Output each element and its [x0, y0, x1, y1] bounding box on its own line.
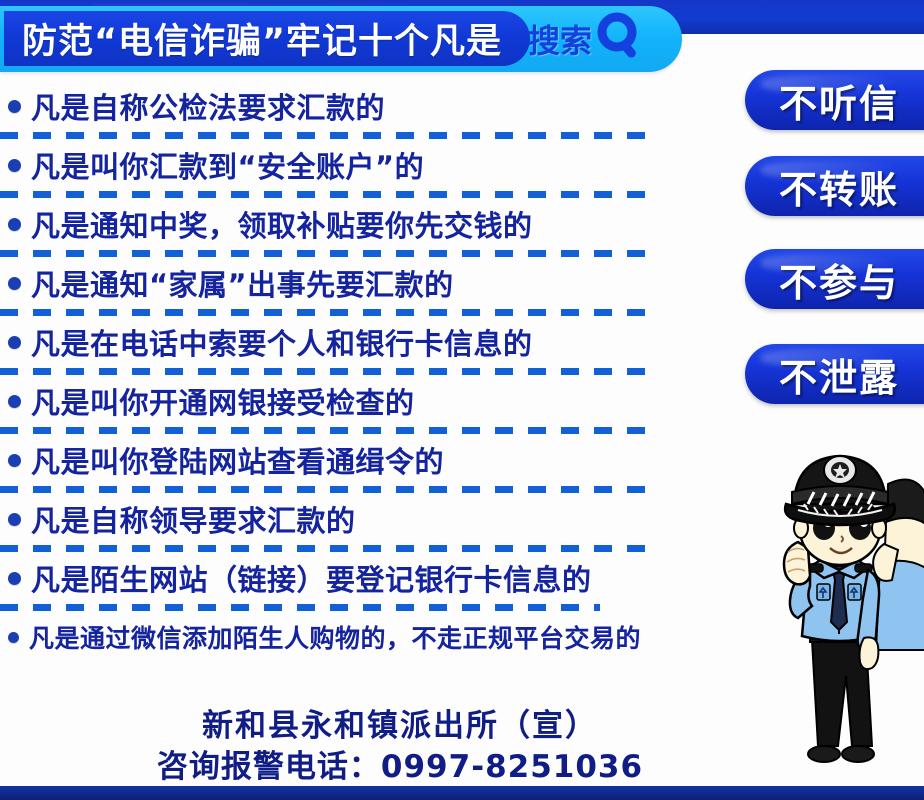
page-title: 防范“电信诈骗”牢记十个凡是 [4, 13, 502, 64]
list-item-label: 凡是自称领导要求汇款的 [31, 498, 356, 540]
title-banner: 防范“电信诈骗”牢记十个凡是 搜索 [0, 6, 682, 72]
bullet-icon [8, 572, 21, 585]
dashed-divider [0, 486, 650, 493]
dashed-divider [0, 368, 650, 375]
search-label: 搜索 [528, 16, 592, 62]
badge-label: 不转账 [745, 159, 899, 214]
rules-list: 凡是自称公检法要求汇款的 凡是叫你汇款到“安全账户”的 凡是通知中奖，领取补贴要… [0, 80, 740, 663]
hotline-text: 咨询报警电话：0997-8251036 [0, 746, 800, 788]
list-item-label: 凡是自称公检法要求汇款的 [31, 85, 385, 127]
footer: 新和县永和镇派出所（宣） 咨询报警电话：0997-8251036 [0, 706, 800, 788]
dashed-divider [0, 545, 650, 552]
dashed-divider [0, 191, 650, 198]
list-item: 凡是叫你汇款到“安全账户”的 [0, 139, 740, 191]
list-item: 凡是陌生网站（链接）要登记银行卡信息的 [0, 552, 740, 604]
bullet-icon [8, 513, 21, 526]
list-item-label: 凡是叫你开通网银接受检查的 [31, 380, 415, 422]
badge-do-not-participate[interactable]: 不参与 [745, 249, 924, 309]
list-item: 凡是在电话中索要个人和银行卡信息的 [0, 316, 740, 368]
bullet-icon [8, 277, 21, 290]
bullet-icon [8, 159, 21, 172]
list-item-label: 凡是通知“家属”出事先要汇款的 [31, 262, 454, 304]
list-item: 凡是自称领导要求汇款的 [0, 493, 740, 545]
bullet-icon [8, 395, 21, 408]
badge-label: 不听信 [745, 73, 899, 128]
title-pill: 防范“电信诈骗”牢记十个凡是 [4, 11, 530, 66]
list-item: 凡是通过微信添加陌生人购物的，不走正规平台交易的 [0, 611, 740, 663]
dashed-divider [0, 250, 650, 257]
list-item-label: 凡是通知中奖，领取补贴要你先交钱的 [31, 203, 533, 245]
bullet-icon [8, 632, 19, 643]
badge-do-not-believe[interactable]: 不听信 [745, 70, 924, 130]
list-item-label: 凡是通过微信添加陌生人购物的，不走正规平台交易的 [29, 619, 641, 655]
search-icon[interactable] [594, 11, 646, 67]
list-item-label: 凡是叫你登陆网站查看通缉令的 [31, 439, 444, 481]
dashed-divider [0, 427, 650, 434]
badge-do-not-disclose[interactable]: 不泄露 [745, 344, 924, 404]
list-item: 凡是叫你开通网银接受检查的 [0, 375, 740, 427]
bullet-icon [8, 218, 21, 231]
poster-canvas: 防范“电信诈骗”牢记十个凡是 搜索 凡是自称公检法要求汇款的 凡是叫你汇款到“安… [0, 0, 924, 800]
bullet-icon [8, 336, 21, 349]
dashed-divider [0, 132, 650, 139]
list-item: 凡是通知中奖，领取补贴要你先交钱的 [0, 198, 740, 250]
bottom-banner-strip [0, 786, 924, 800]
badge-label: 不参与 [745, 252, 899, 307]
issuing-authority: 新和县永和镇派出所（宣） [0, 706, 800, 746]
list-item-label: 凡是叫你汇款到“安全账户”的 [31, 144, 424, 186]
badge-do-not-transfer[interactable]: 不转账 [745, 156, 924, 216]
bullet-icon [8, 100, 21, 113]
search-area[interactable]: 搜索 [528, 10, 678, 68]
dashed-divider [0, 309, 650, 316]
list-item-label: 凡是陌生网站（链接）要登记银行卡信息的 [31, 557, 592, 599]
bullet-icon [8, 454, 21, 467]
list-item: 凡是通知“家属”出事先要汇款的 [0, 257, 740, 309]
list-item: 凡是自称公检法要求汇款的 [0, 80, 740, 132]
list-item-label: 凡是在电话中索要个人和银行卡信息的 [31, 321, 533, 363]
dashed-divider [0, 604, 600, 611]
badge-label: 不泄露 [745, 347, 899, 402]
list-item: 凡是叫你登陆网站查看通缉令的 [0, 434, 740, 486]
